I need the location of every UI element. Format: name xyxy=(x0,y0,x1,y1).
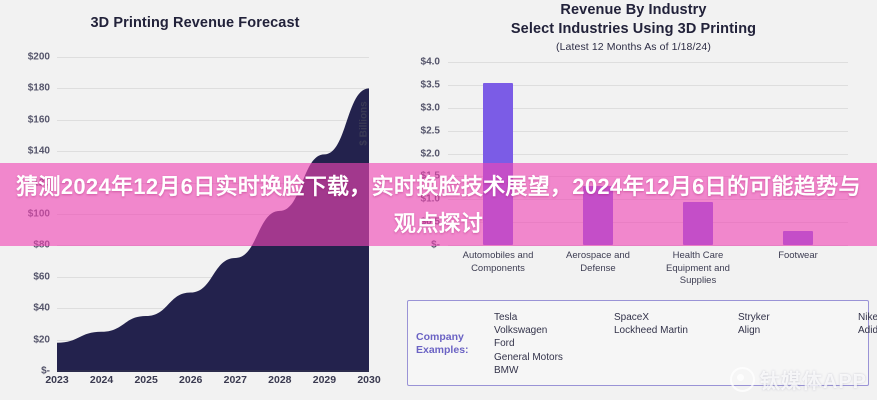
company-example-column: SpaceX Lockheed Martin xyxy=(614,311,688,337)
y-tick-label: $2.0 xyxy=(398,148,440,159)
left-chart-title: 3D Printing Revenue Forecast xyxy=(0,15,390,31)
category-label: Footwear xyxy=(741,250,855,263)
infographic-canvas: 3D Printing Revenue Forecast $ Billions … xyxy=(0,0,877,400)
x-tick-label: 2028 xyxy=(268,374,291,386)
y-tick-label: $3.5 xyxy=(398,79,440,90)
y-tick-label: $3.0 xyxy=(398,102,440,113)
left-axis-baseline xyxy=(57,370,369,372)
company-examples-label: Company Examples: xyxy=(416,331,478,357)
y-tick-label: $180 xyxy=(2,83,50,94)
y-tick-label: $4.0 xyxy=(398,57,440,68)
gridline xyxy=(448,62,848,63)
y-tick-label: $200 xyxy=(2,52,50,63)
x-tick-label: 2023 xyxy=(45,374,68,386)
caption-overlay-band: 猜测2024年12月6日实时换脸下载，实时换脸技术展望，2024年12月6日的可… xyxy=(0,163,877,246)
right-y-axis-title: $ Billions xyxy=(359,101,370,145)
left-x-tick-labels: 20232024202520262027202820292030 xyxy=(57,374,369,390)
right-chart-subtitle: Select Industries Using 3D Printing xyxy=(390,21,877,37)
company-examples-box: Company Examples: Tesla Volkswagen Ford … xyxy=(407,300,869,386)
right-chart-title: Revenue By Industry xyxy=(390,2,877,18)
company-example-column: Tesla Volkswagen Ford General Motors BMW xyxy=(494,311,563,377)
company-example-column: Stryker Align xyxy=(738,311,770,337)
right-chart-annotation: (Latest 12 Months As of 1/18/24) xyxy=(390,41,877,53)
company-example-column: Nike Adidas xyxy=(858,311,877,337)
y-tick-label: $2.5 xyxy=(398,125,440,136)
category-label: Health Care Equipment and Supplies xyxy=(641,250,755,288)
y-tick-label: $160 xyxy=(2,114,50,125)
y-tick-label: $40 xyxy=(2,303,50,314)
category-label: Aerospace and Defense xyxy=(541,250,655,275)
x-tick-label: 2026 xyxy=(179,374,202,386)
y-tick-label: $20 xyxy=(2,334,50,345)
x-tick-label: 2024 xyxy=(90,374,113,386)
y-tick-label: $- xyxy=(2,366,50,377)
x-tick-label: 2030 xyxy=(357,374,380,386)
y-tick-label: $60 xyxy=(2,271,50,282)
x-tick-label: 2025 xyxy=(134,374,157,386)
caption-text: 猜测2024年12月6日实时换脸下载，实时换脸技术展望，2024年12月6日的可… xyxy=(6,168,871,242)
category-label: Automobiles and Components xyxy=(441,250,555,275)
x-tick-label: 2029 xyxy=(313,374,336,386)
x-tick-label: 2027 xyxy=(224,374,247,386)
y-tick-label: $140 xyxy=(2,146,50,157)
